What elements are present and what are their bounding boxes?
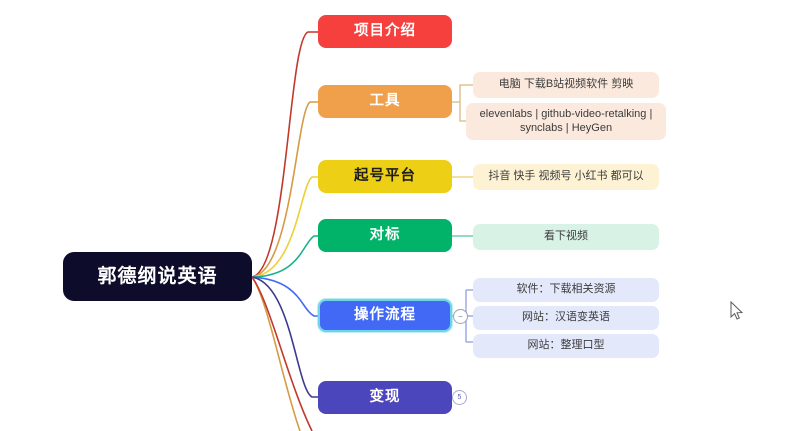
collapsed-count-label: 5 xyxy=(458,394,462,401)
topic-node-platform[interactable]: 起号平台 xyxy=(318,160,452,193)
mindmap-canvas[interactable]: 郭德纲说英语 项目介绍 工具 起号平台 对标 操作流程 变现 电脑 下载B站视频… xyxy=(0,0,801,431)
collapse-toggle-workflow[interactable]: − xyxy=(453,309,468,324)
subtopic-node-label: 软件：下载相关资源 xyxy=(517,283,616,297)
minus-icon: − xyxy=(458,313,463,321)
subtopic-node-workflow-1[interactable]: 软件：下载相关资源 xyxy=(473,278,659,302)
root-node[interactable]: 郭德纲说英语 xyxy=(63,252,252,301)
subtopic-node-label: 看下视频 xyxy=(544,230,588,244)
topic-node-monetization[interactable]: 变现 xyxy=(318,381,452,414)
topic-node-label: 对标 xyxy=(370,226,401,244)
topic-node-label: 操作流程 xyxy=(354,306,416,324)
topic-node-intro[interactable]: 项目介绍 xyxy=(318,15,452,48)
subtopic-node-tools-1[interactable]: 电脑 下载B站视频软件 剪映 xyxy=(473,72,659,98)
subtopic-node-label: elevenlabs | github-video-retalking | sy… xyxy=(474,108,658,136)
topic-node-label: 工具 xyxy=(370,92,401,110)
topic-node-benchmark[interactable]: 对标 xyxy=(318,219,452,252)
branch-connector-lines xyxy=(0,0,801,431)
subtopic-node-workflow-3[interactable]: 网站：整理口型 xyxy=(473,334,659,358)
topic-node-label: 起号平台 xyxy=(354,167,416,185)
subtopic-node-label: 抖音 快手 视频号 小红书 都可以 xyxy=(488,170,643,184)
subtopic-node-tools-2[interactable]: elevenlabs | github-video-retalking | sy… xyxy=(466,103,666,140)
topic-node-tools[interactable]: 工具 xyxy=(318,85,452,118)
collapsed-children-badge-monetization[interactable]: 5 xyxy=(452,390,467,405)
subtopic-node-workflow-2[interactable]: 网站：汉语变英语 xyxy=(473,306,659,330)
topic-node-workflow[interactable]: 操作流程 xyxy=(318,299,452,332)
subtopic-node-label: 电脑 下载B站视频软件 剪映 xyxy=(499,78,633,92)
topic-node-label: 项目介绍 xyxy=(354,22,416,40)
root-node-label: 郭德纲说英语 xyxy=(97,265,217,289)
subtopic-node-platform-1[interactable]: 抖音 快手 视频号 小红书 都可以 xyxy=(473,164,659,190)
subtopic-node-label: 网站：汉语变英语 xyxy=(522,311,610,325)
mouse-cursor-icon xyxy=(730,301,744,321)
topic-node-label: 变现 xyxy=(370,388,401,406)
subtopic-node-label: 网站：整理口型 xyxy=(528,339,605,353)
subtopic-node-benchmark-1[interactable]: 看下视频 xyxy=(473,224,659,250)
